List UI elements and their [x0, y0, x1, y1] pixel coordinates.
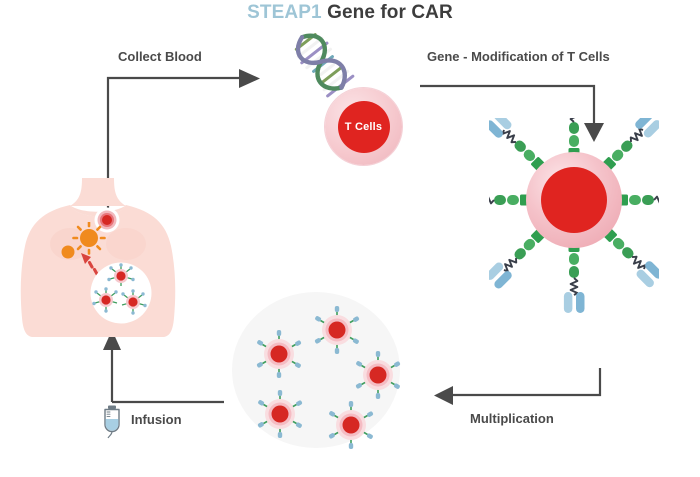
car-t-cell-icon: [314, 306, 360, 354]
multiplication-arrow: [432, 366, 612, 416]
arrow-right-icon: [239, 69, 260, 88]
car-t-cell-icon: [328, 401, 374, 449]
arrow-left-icon: [434, 386, 453, 405]
car-t-cell-icon: [257, 390, 303, 438]
title-rest: Gene for CAR: [327, 2, 453, 23]
title-gene-name: STEAP1: [247, 2, 322, 23]
diagram-canvas: STEAP1 Gene for CAR Collect Blood Gene -…: [0, 0, 700, 477]
car-t-cell-icon: [355, 351, 401, 399]
t-cell-circle: T Cells: [325, 88, 402, 165]
body-car-t-cluster: [88, 262, 154, 326]
iv-bag-icon: [100, 405, 124, 439]
page-title: STEAP1 Gene for CAR: [0, 2, 700, 24]
car-t-nucleus: [541, 167, 607, 233]
cancer-cell-icon: [62, 223, 105, 259]
multiplied-car-t-cells: [228, 290, 410, 450]
car-t-cell-engineered: [489, 118, 659, 318]
t-cell-core: T Cells: [338, 101, 390, 153]
car-t-cell-icon: [256, 330, 302, 378]
step-label-infusion: Infusion: [131, 412, 182, 427]
car-receptor-icon: [489, 190, 532, 211]
step-label-collect-blood: Collect Blood: [118, 49, 202, 64]
car-receptor-icon: [564, 240, 585, 313]
step-label-gene-modification: Gene - Modification of T Cells: [427, 49, 610, 64]
step-label-multiplication: Multiplication: [470, 411, 554, 426]
t-cell-label: T Cells: [345, 121, 382, 133]
car-receptor-icon: [616, 190, 659, 211]
